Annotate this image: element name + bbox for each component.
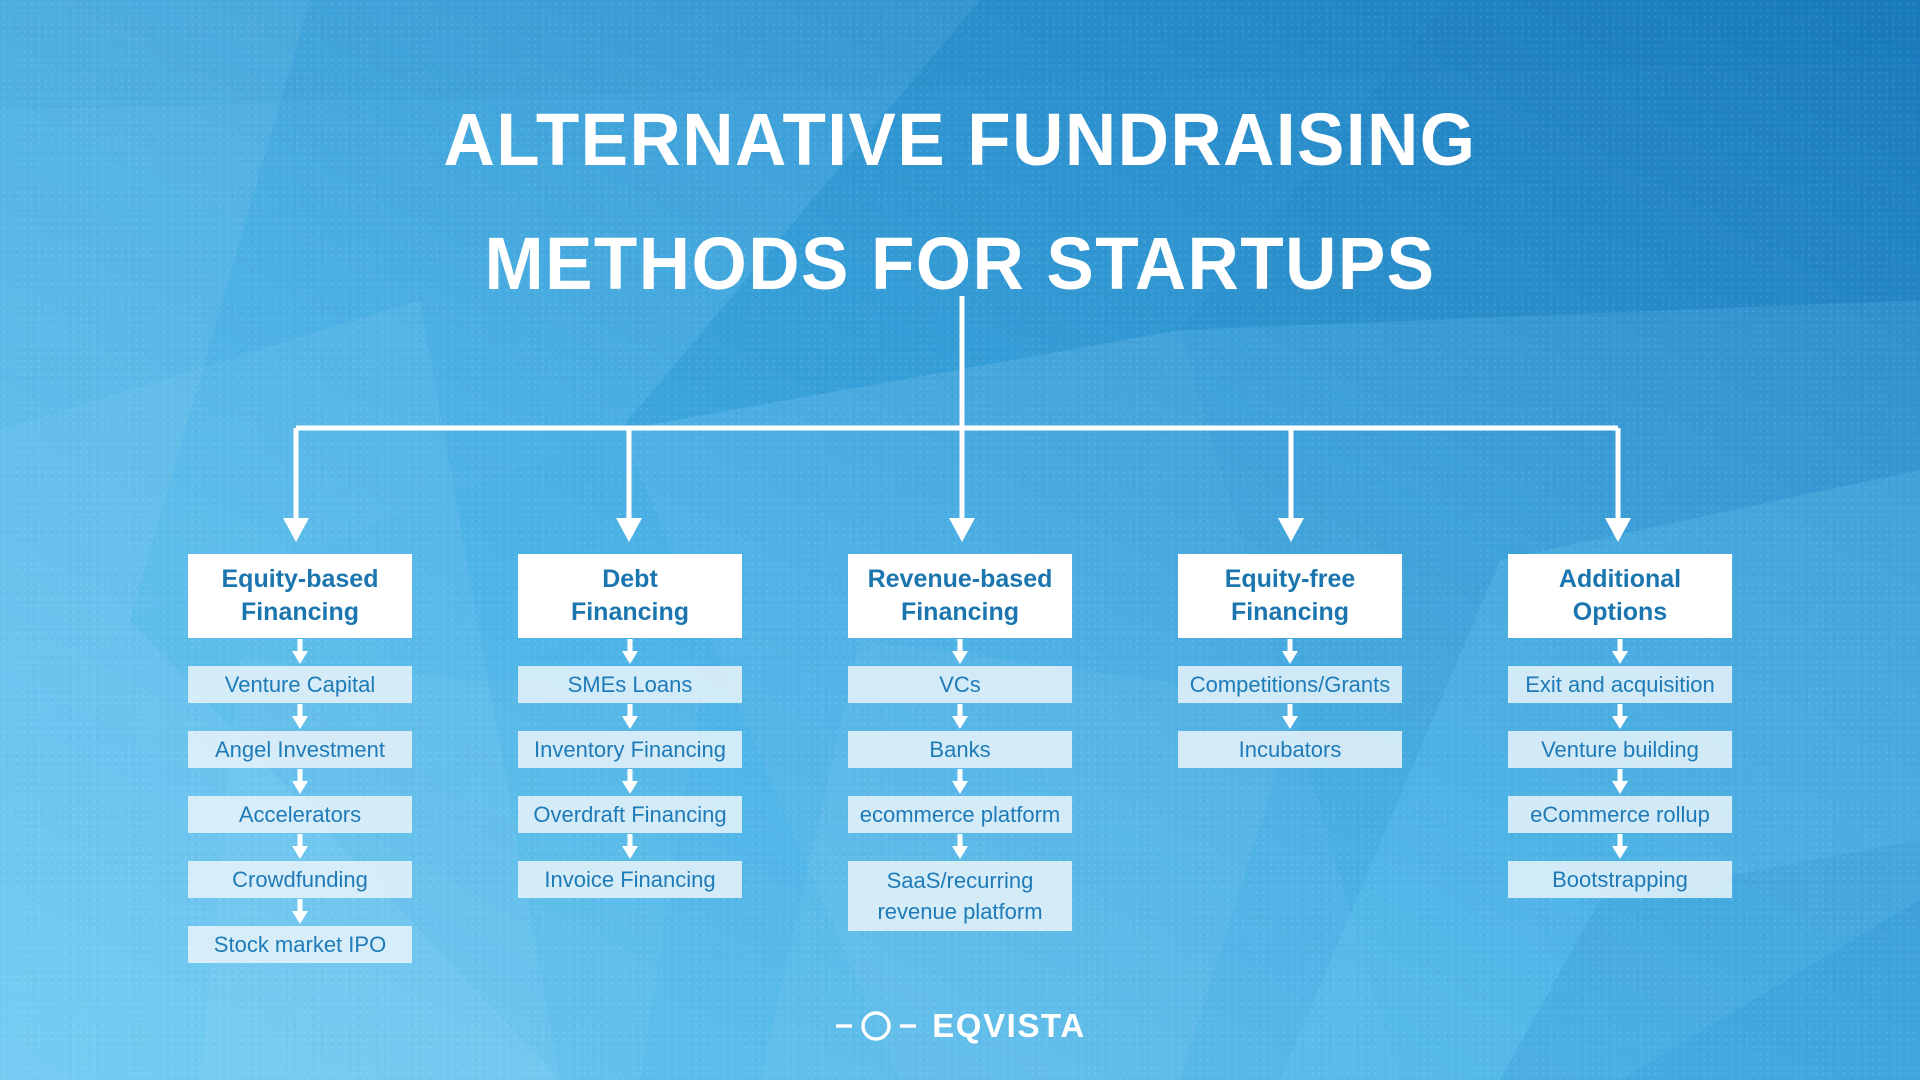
item-arrow-icon [465,638,795,666]
column-heading-line-2: Financing [571,596,689,629]
list-item[interactable]: Exit and acquisition [1508,666,1732,703]
column-additional-options: Additional Options Exit and acquisition … [1455,554,1785,898]
item-arrow-icon [135,703,465,731]
column-heading-line-2: Financing [222,596,379,629]
item-arrow-icon [135,638,465,666]
item-arrow-icon [1125,638,1455,666]
column-heading-line-1: Additional [1559,563,1681,596]
item-arrow-icon [795,703,1125,731]
list-item[interactable]: Invoice Financing [518,861,742,898]
list-item[interactable]: ecommerce platform [848,796,1072,833]
column-heading-line-2: Options [1559,596,1681,629]
item-arrow-icon [135,768,465,796]
item-arrow-icon [135,833,465,861]
item-arrow-icon [795,768,1125,796]
item-arrow-icon [1455,768,1785,796]
tree-arrow-3 [949,518,975,542]
tree-arrow-4 [1278,518,1304,542]
item-arrow-icon [465,768,795,796]
title-line-2: METHODS FOR STARTUPS [38,202,1881,326]
item-arrow-icon [1455,703,1785,731]
item-chain: Competitions/Grants Incubators [1125,638,1455,768]
item-arrow-icon [465,703,795,731]
list-item[interactable]: Crowdfunding [188,861,412,898]
list-item[interactable]: Venture Capital [188,666,412,703]
title-line-1: ALTERNATIVE FUNDRAISING [38,78,1881,202]
column-equity-free-financing: Equity-free Financing Competitions/Grant… [1125,554,1455,768]
tree-arrow-5 [1605,518,1631,542]
column-heading[interactable]: Equity-based Financing [188,554,412,638]
column-revenue-based-financing: Revenue-based Financing VCs Banks ecomme… [795,554,1125,931]
circle-dash-icon [834,1008,918,1044]
item-chain: Venture Capital Angel Investment Acceler… [135,638,465,963]
column-debt-financing: Debt Financing SMEs Loans Inventory Fina… [465,554,795,898]
column-heading-line-1: Revenue-based [868,563,1053,596]
list-item[interactable]: eCommerce rollup [1508,796,1732,833]
item-chain: SMEs Loans Inventory Financing Overdraft… [465,638,795,898]
list-item[interactable]: Accelerators [188,796,412,833]
item-arrow-icon [135,898,465,926]
tree-arrow-2 [616,518,642,542]
column-heading-line-1: Equity-free [1225,563,1356,596]
page-title: ALTERNATIVE FUNDRAISING METHODS FOR STAR… [0,78,1920,326]
list-item[interactable]: Bootstrapping [1508,861,1732,898]
column-heading[interactable]: Debt Financing [518,554,742,638]
column-heading[interactable]: Equity-free Financing [1178,554,1402,638]
item-arrow-icon [1455,833,1785,861]
list-item[interactable]: Stock market IPO [188,926,412,963]
brand-logo[interactable]: EQVISTA [0,1007,1920,1045]
column-heading-line-1: Equity-based [222,563,379,596]
item-chain: VCs Banks ecommerce platform SaaS/recurr… [795,638,1125,931]
list-item[interactable]: Competitions/Grants [1178,666,1402,703]
item-arrow-icon [795,638,1125,666]
list-item[interactable]: VCs [848,666,1072,703]
item-arrow-icon [1455,638,1785,666]
list-item[interactable]: Incubators [1178,731,1402,768]
list-item[interactable]: Inventory Financing [518,731,742,768]
list-item[interactable]: Overdraft Financing [518,796,742,833]
tree-arrow-1 [283,518,309,542]
list-item[interactable]: Angel Investment [188,731,412,768]
item-arrow-icon [1125,703,1455,731]
column-equity-based-financing: Equity-based Financing Venture Capital A… [135,554,465,963]
list-item[interactable]: SMEs Loans [518,666,742,703]
column-heading-line-1: Debt [571,563,689,596]
column-heading[interactable]: Additional Options [1508,554,1732,638]
brand-name: EQVISTA [932,1007,1086,1045]
columns-container: Equity-based Financing Venture Capital A… [0,554,1920,963]
list-item[interactable]: Banks [848,731,1072,768]
list-item[interactable]: Venture building [1508,731,1732,768]
item-chain: Exit and acquisition Venture building eC… [1455,638,1785,898]
list-item[interactable]: SaaS/recurring revenue platform [848,861,1072,931]
column-heading-line-2: Financing [1225,596,1356,629]
column-heading[interactable]: Revenue-based Financing [848,554,1072,638]
item-arrow-icon [795,833,1125,861]
item-arrow-icon [465,833,795,861]
column-heading-line-2: Financing [868,596,1053,629]
